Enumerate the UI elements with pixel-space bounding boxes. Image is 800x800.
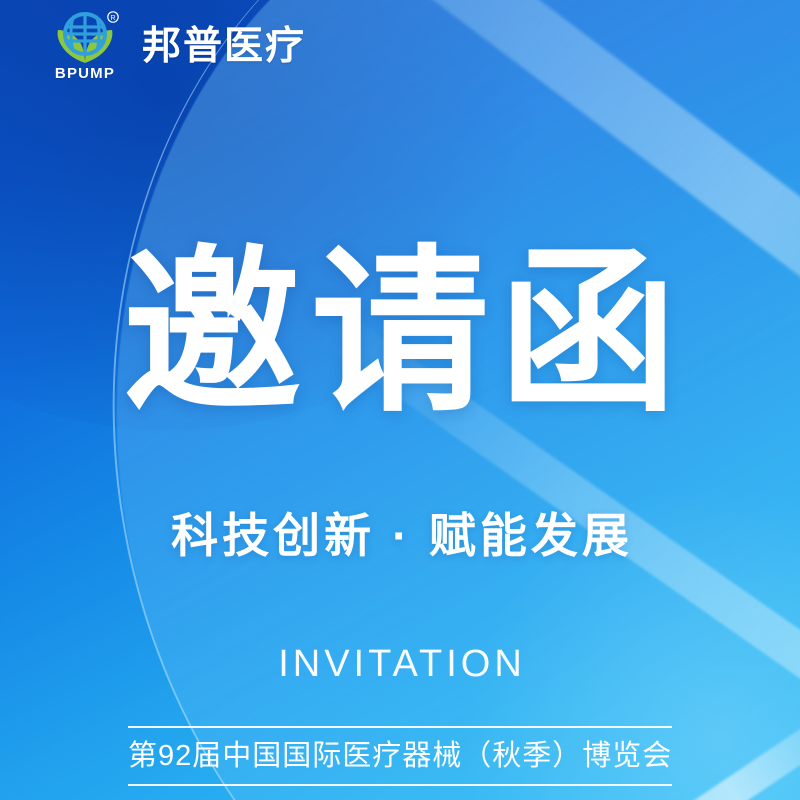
company-logo: R BPUMP <box>46 10 124 88</box>
footer-block: 第92届中国国际医疗器械（秋季）博览会 <box>128 726 672 786</box>
divider-bottom <box>128 784 672 786</box>
logo-wordmark: BPUMP <box>55 66 115 81</box>
svg-text:R: R <box>110 15 115 22</box>
brand-header: R BPUMP 邦普医疗 <box>46 10 306 88</box>
page-title: 邀请函 <box>0 244 800 422</box>
event-name: 第92届中国国际医疗器械（秋季）博览会 <box>128 728 672 784</box>
bpump-globe-leaf-logo-icon: R <box>47 10 123 68</box>
english-title: INVITATION <box>0 645 800 683</box>
invitation-poster: R BPUMP 邦普医疗 邀请函 科技创新 · 赋能发展 INVITATION … <box>0 0 800 800</box>
company-name: 邦普医疗 <box>142 27 306 66</box>
subtitle: 科技创新 · 赋能发展 <box>0 508 800 564</box>
